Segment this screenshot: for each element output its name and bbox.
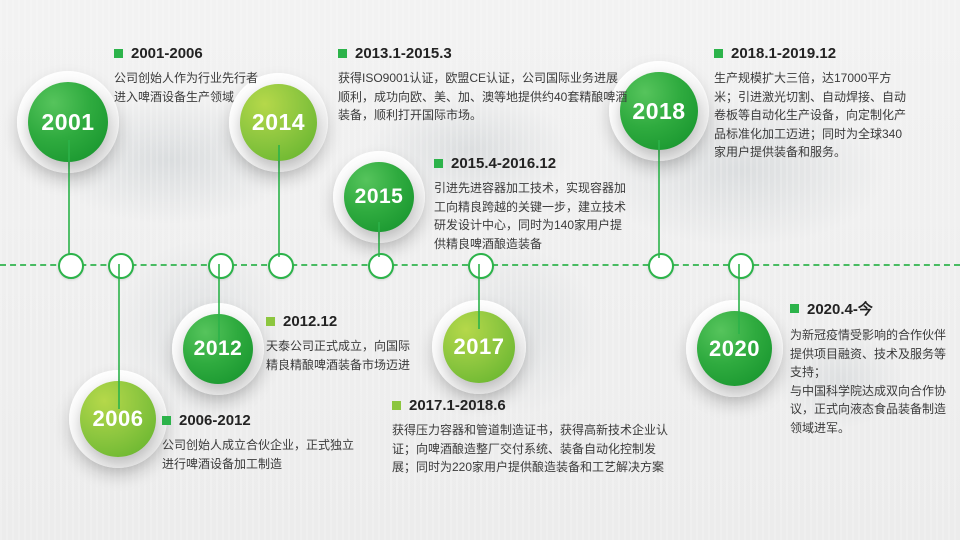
bullet-square-icon	[790, 304, 799, 313]
milestone-marker-2018[interactable]: 2018	[620, 72, 698, 150]
bullet-square-icon	[266, 317, 275, 326]
bullet-square-icon	[338, 49, 347, 58]
bullet-square-icon	[162, 416, 171, 425]
milestone-body: 公司创始人成立合伙企业，正式独立进行啤酒设备加工制造	[162, 436, 357, 473]
milestone-marker-label: 2014	[252, 109, 305, 136]
milestone-text-2015-2016: 2015.4-2016.12 引进先进容器加工技术，实现容器加工向精良跨越的关键…	[434, 155, 634, 253]
milestone-marker-label: 2017	[454, 334, 505, 360]
milestone-heading: 2001-2006	[114, 45, 264, 62]
milestone-heading: 2012.12	[266, 313, 416, 330]
milestone-title: 2017.1-2018.6	[409, 397, 506, 414]
bullet-square-icon	[714, 49, 723, 58]
bullet-square-icon	[434, 159, 443, 168]
timeline-node-2015	[368, 253, 394, 279]
milestone-title: 2015.4-2016.12	[451, 155, 556, 172]
milestone-body: 公司创始人作为行业先行者进入啤酒设备生产领域	[114, 69, 264, 106]
milestone-marker-label: 2012	[194, 337, 243, 361]
timeline-node-2012	[208, 253, 234, 279]
timeline-node-2020	[728, 253, 754, 279]
milestone-marker-2001[interactable]: 2001	[28, 82, 108, 162]
timeline-node-2018	[648, 253, 674, 279]
milestone-heading: 2013.1-2015.3	[338, 45, 628, 62]
milestone-heading: 2015.4-2016.12	[434, 155, 634, 172]
milestone-title: 2006-2012	[179, 412, 251, 429]
milestone-marker-2020[interactable]: 2020	[697, 311, 772, 386]
milestone-body: 为新冠疫情受影响的合作伙伴提供项目融资、技术及服务等支持； 与中国科学院达成双向…	[790, 326, 955, 438]
timeline-node-2006	[108, 253, 134, 279]
milestone-marker-label: 2015	[355, 185, 404, 209]
milestone-marker-2015[interactable]: 2015	[344, 162, 414, 232]
bullet-square-icon	[114, 49, 123, 58]
milestone-marker-label: 2018	[632, 98, 685, 125]
milestone-heading: 2017.1-2018.6	[392, 397, 672, 414]
milestone-text-2018-2019: 2018.1-2019.12 生产规模扩大三倍，达17000平方米；引进激光切割…	[714, 45, 914, 162]
stem-2018	[658, 140, 660, 258]
milestone-title: 2012.12	[283, 313, 337, 330]
milestone-body: 天泰公司正式成立，向国际精良精酿啤酒装备市场迈进	[266, 337, 416, 374]
milestone-body: 获得ISO9001认证，欧盟CE认证，公司国际业务进展顺利，成功向欧、美、加、澳…	[338, 69, 628, 125]
milestone-marker-2006[interactable]: 2006	[80, 381, 156, 457]
timeline-node-2001	[58, 253, 84, 279]
timeline-diagram: 2001 2014 2015 2018 2012 2006 2017 2020 …	[0, 0, 960, 540]
milestone-marker-label: 2001	[41, 109, 94, 136]
milestone-heading: 2018.1-2019.12	[714, 45, 914, 62]
milestone-title: 2020.4-今	[807, 298, 873, 319]
milestone-title: 2018.1-2019.12	[731, 45, 836, 62]
milestone-text-2012-12: 2012.12 天泰公司正式成立，向国际精良精酿啤酒装备市场迈进	[266, 313, 416, 374]
milestone-text-2001-2006: 2001-2006 公司创始人作为行业先行者进入啤酒设备生产领域	[114, 45, 264, 106]
stem-2014	[278, 145, 280, 257]
milestone-marker-2012[interactable]: 2012	[183, 314, 253, 384]
milestone-heading: 2020.4-今	[790, 298, 955, 319]
milestone-marker-label: 2020	[709, 336, 760, 362]
milestone-text-2020: 2020.4-今 为新冠疫情受影响的合作伙伴提供项目融资、技术及服务等支持； 与…	[790, 298, 955, 438]
milestone-body: 获得压力容器和管道制造证书，获得高新技术企业认证；向啤酒酿造整厂交付系统、装备自…	[392, 421, 672, 477]
milestone-heading: 2006-2012	[162, 412, 357, 429]
milestone-marker-label: 2006	[93, 406, 144, 432]
milestone-body: 引进先进容器加工技术，实现容器加工向精良跨越的关键一步，建立技术研发设计中心，同…	[434, 179, 634, 253]
milestone-marker-2017[interactable]: 2017	[443, 311, 515, 383]
timeline-node-2014	[268, 253, 294, 279]
milestone-title: 2001-2006	[131, 45, 203, 62]
milestone-title: 2013.1-2015.3	[355, 45, 452, 62]
milestone-text-2017-2018: 2017.1-2018.6 获得压力容器和管道制造证书，获得高新技术企业认证；向…	[392, 397, 672, 477]
milestone-text-2006-2012: 2006-2012 公司创始人成立合伙企业，正式独立进行啤酒设备加工制造	[162, 412, 357, 473]
timeline-node-2017	[468, 253, 494, 279]
milestone-body: 生产规模扩大三倍，达17000平方米；引进激光切割、自动焊接、自动卷板等自动化生…	[714, 69, 914, 162]
bullet-square-icon	[392, 401, 401, 410]
milestone-text-2013-2015: 2013.1-2015.3 获得ISO9001认证，欧盟CE认证，公司国际业务进…	[338, 45, 628, 125]
